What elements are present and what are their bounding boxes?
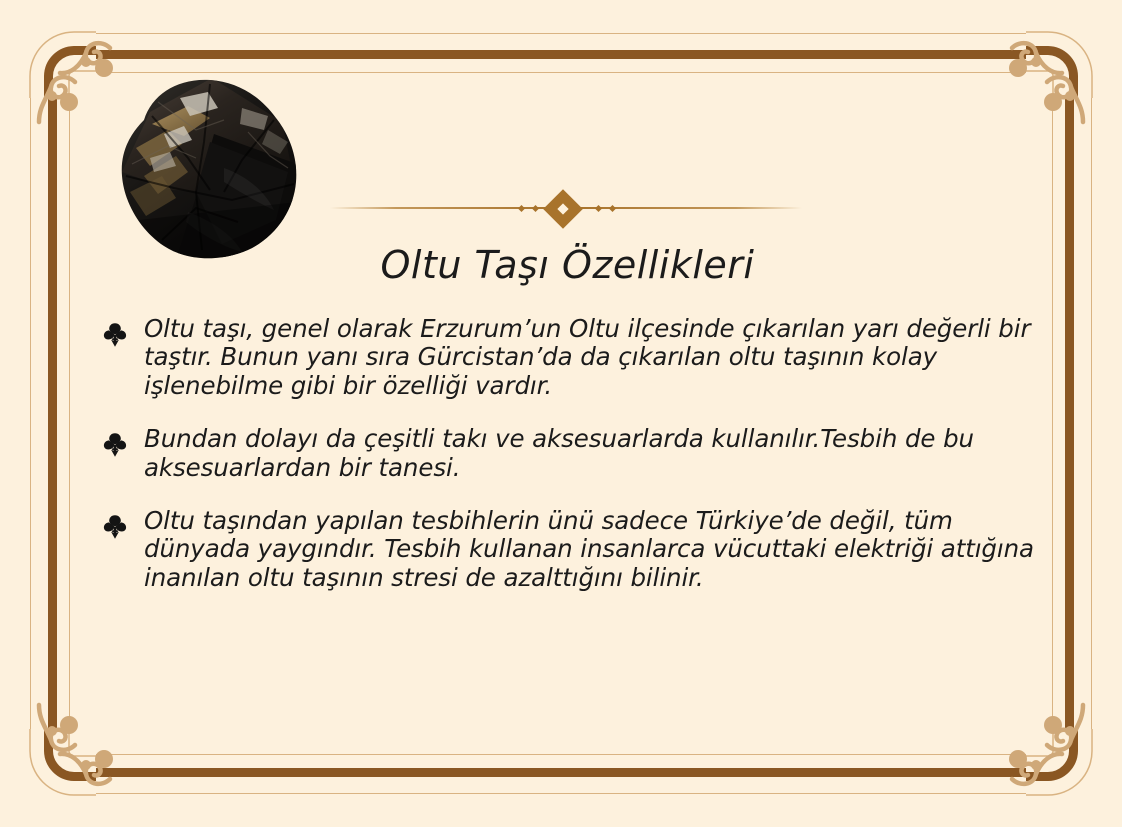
list-item-text: Oltu taşı, genel olarak Erzurum’un Oltu …	[144, 315, 1050, 401]
oltu-stone-photo	[92, 72, 320, 268]
list-item: Oltu taşı, genel olarak Erzurum’un Oltu …	[100, 315, 1050, 401]
frame-corner-top-right	[1026, 24, 1100, 98]
divider-dot	[518, 204, 525, 211]
corner-flourish-bottom-left	[24, 683, 142, 801]
fleur-de-lis-icon	[102, 322, 128, 348]
divider-diamond-icon	[543, 189, 583, 229]
list-item-text: Oltu taşından yapılan tesbihlerin ünü sa…	[144, 507, 1050, 593]
divider-dot	[595, 204, 602, 211]
info-card: Oltu Taşı Özellikleri Oltu taşı, genel o…	[0, 0, 1122, 827]
frame-corner-bottom-right	[1026, 729, 1100, 803]
list-item: Oltu taşından yapılan tesbihlerin ünü sa…	[100, 507, 1050, 593]
divider-dot	[532, 204, 539, 211]
title-divider-ornament	[330, 196, 802, 222]
fleur-de-lis-icon	[102, 432, 128, 458]
corner-flourish-bottom-right	[980, 683, 1098, 801]
feature-list: Oltu taşı, genel olarak Erzurum’un Oltu …	[100, 290, 1050, 617]
list-item-text: Bundan dolayı da çeşitli takı ve aksesua…	[144, 425, 1050, 482]
frame-corner-top-left	[22, 24, 96, 98]
divider-dot	[609, 204, 616, 211]
list-item: Bundan dolayı da çeşitli takı ve aksesua…	[100, 425, 1050, 482]
corner-flourish-top-right	[980, 26, 1098, 144]
page-title: Oltu Taşı Özellikleri	[330, 243, 805, 287]
fleur-de-lis-icon	[102, 514, 128, 540]
frame-corner-bottom-left	[22, 729, 96, 803]
